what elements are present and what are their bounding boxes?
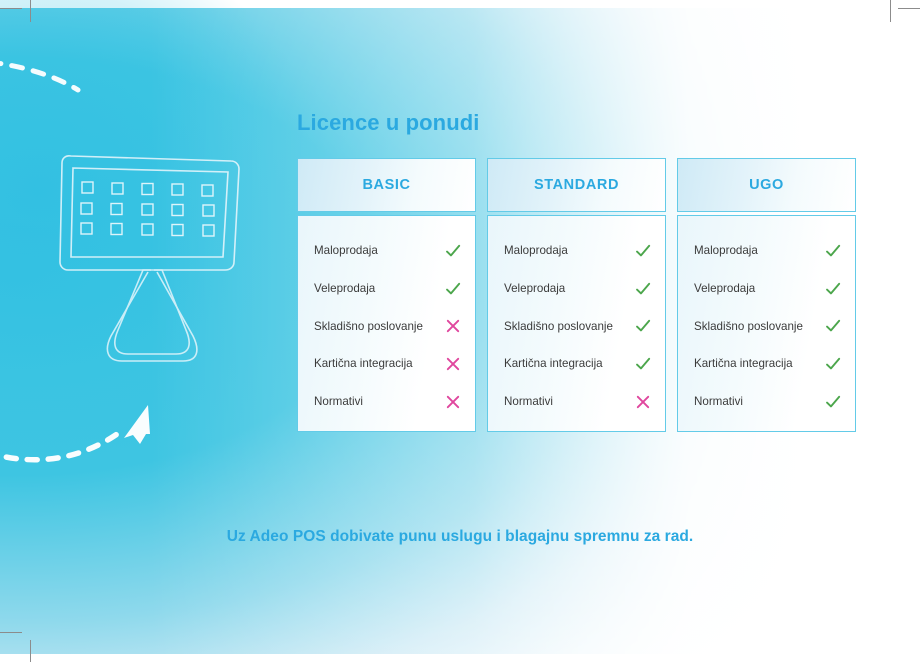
cross-icon <box>444 355 462 373</box>
feature-row: Maloprodaja <box>314 232 462 270</box>
feature-row: Kartična integracija <box>314 345 462 383</box>
check-icon <box>634 242 652 260</box>
feature-label: Kartična integracija <box>504 358 603 370</box>
feature-row: Normativi <box>314 383 462 421</box>
feature-row: Veleprodaja <box>694 270 842 308</box>
cross-icon <box>634 393 652 411</box>
slide-content: Licence u ponudi BASIC Maloprodaja Velep… <box>0 0 920 662</box>
feature-label: Normativi <box>694 396 743 408</box>
check-icon <box>824 242 842 260</box>
licence-card-header-standard: STANDARD <box>487 158 666 212</box>
feature-row: Normativi <box>504 383 652 421</box>
licence-card-body-basic: Maloprodaja Veleprodaja Skladišno poslov… <box>297 215 476 432</box>
cross-icon <box>444 393 462 411</box>
check-icon <box>444 280 462 298</box>
feature-row: Veleprodaja <box>504 270 652 308</box>
feature-row: Kartična integracija <box>504 345 652 383</box>
licence-name-basic: BASIC <box>362 177 410 193</box>
check-icon <box>634 355 652 373</box>
feature-row: Normativi <box>694 383 842 421</box>
licence-card-basic[interactable]: BASIC Maloprodaja Veleprodaja Skladišno … <box>297 158 476 432</box>
cross-icon <box>444 317 462 335</box>
check-icon <box>634 317 652 335</box>
licence-card-body-standard: Maloprodaja Veleprodaja Skladišno poslov… <box>487 215 666 432</box>
check-icon <box>824 280 842 298</box>
check-icon <box>824 317 842 335</box>
feature-label: Maloprodaja <box>504 245 568 257</box>
feature-label: Skladišno poslovanje <box>314 321 423 333</box>
licence-card-ugo[interactable]: UGO Maloprodaja Veleprodaja Skladišno po… <box>677 158 856 432</box>
feature-row: Maloprodaja <box>694 232 842 270</box>
page-title: Licence u ponudi <box>297 110 480 136</box>
feature-label: Skladišno poslovanje <box>694 321 803 333</box>
check-icon <box>824 355 842 373</box>
feature-label: Veleprodaja <box>314 283 375 295</box>
licence-name-standard: STANDARD <box>534 177 619 193</box>
feature-row: Maloprodaja <box>504 232 652 270</box>
feature-row: Skladišno poslovanje <box>694 308 842 346</box>
check-icon <box>824 393 842 411</box>
licence-card-header-ugo: UGO <box>677 158 856 212</box>
check-icon <box>634 280 652 298</box>
licence-cards: BASIC Maloprodaja Veleprodaja Skladišno … <box>297 158 856 432</box>
feature-row: Skladišno poslovanje <box>504 308 652 346</box>
slide-page: Licence u ponudi BASIC Maloprodaja Velep… <box>0 0 920 662</box>
feature-label: Kartična integracija <box>694 358 793 370</box>
feature-row: Kartična integracija <box>694 345 842 383</box>
feature-label: Normativi <box>314 396 363 408</box>
licence-card-header-basic: BASIC <box>297 158 476 212</box>
feature-label: Veleprodaja <box>504 283 565 295</box>
check-icon <box>444 242 462 260</box>
feature-row: Veleprodaja <box>314 270 462 308</box>
licence-card-body-ugo: Maloprodaja Veleprodaja Skladišno poslov… <box>677 215 856 432</box>
feature-label: Kartična integracija <box>314 358 413 370</box>
licence-name-ugo: UGO <box>749 177 784 193</box>
feature-label: Maloprodaja <box>694 245 758 257</box>
tagline: Uz Adeo POS dobivate punu uslugu i blaga… <box>0 528 920 546</box>
feature-label: Veleprodaja <box>694 283 755 295</box>
feature-label: Skladišno poslovanje <box>504 321 613 333</box>
licence-card-standard[interactable]: STANDARD Maloprodaja Veleprodaja Skladiš… <box>487 158 666 432</box>
feature-row: Skladišno poslovanje <box>314 308 462 346</box>
feature-label: Maloprodaja <box>314 245 378 257</box>
feature-label: Normativi <box>504 396 553 408</box>
